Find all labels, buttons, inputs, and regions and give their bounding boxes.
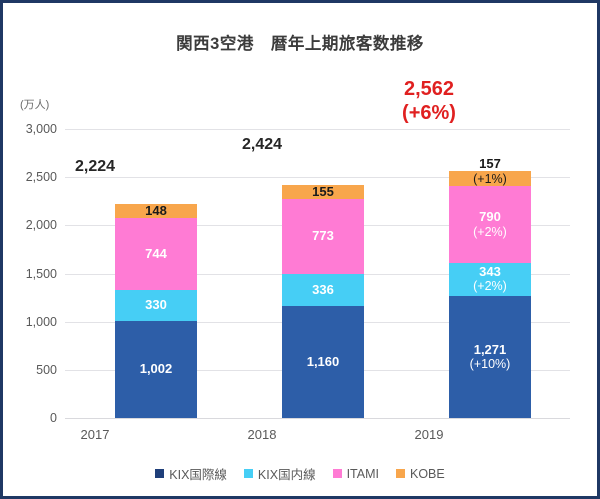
legend-swatch-itami [333,469,342,478]
bar-pct-2019-kix-international: (+10%) [470,357,511,371]
bar-pct-2019-kix-domestic: (+2%) [473,279,507,293]
bar-total-2017: 2,224 [25,157,165,176]
bar-value-2019-kobe: 157 [449,156,531,171]
y-tick-3000: 3,000 [5,122,57,136]
y-tick-0: 0 [5,411,57,425]
bar-value-2019-kix-international: 1,271 [474,343,507,358]
legend-item-kobe[interactable]: KOBE [396,467,445,481]
bar-segment-2017-kix-international[interactable]: 1,002 [115,321,197,418]
legend-item-kix-international[interactable]: KIX国際線 [155,464,227,483]
y-tick-2000: 2,000 [5,218,57,232]
chart-page: 関西3空港 暦年上期旅客数推移 (万人) 3,000 2,500 2,000 1… [0,0,600,499]
legend-label-kobe: KOBE [410,467,445,481]
legend-label-itami: ITAMI [347,467,379,481]
bar-value-2019-kix-domestic: 343 [479,265,501,280]
y-axis-unit-label: (万人) [20,96,49,112]
legend-label-kix-domestic: KIX国内線 [258,464,316,483]
legend-item-itami[interactable]: ITAMI [333,467,379,481]
bar-segment-2017-kobe[interactable]: 148 [115,204,197,218]
bar-value-2018-itami: 773 [312,229,334,244]
y-tick-1000: 1,000 [5,315,57,329]
x-tick-2019: 2019 [359,427,499,442]
chart-canvas: 関西3空港 暦年上期旅客数推移 (万人) 3,000 2,500 2,000 1… [3,3,597,496]
bar-segment-2018-kobe[interactable]: 155 [282,185,364,200]
bar-total-2019: 2,562 (+6%) [359,77,499,125]
x-tick-2018: 2018 [192,427,332,442]
bar-segment-2017-kix-domestic[interactable]: 330 [115,290,197,322]
bar-value-2017-kix-international: 1,002 [140,362,173,377]
bar-pct-2019-kobe: (+1%) [473,172,507,186]
bar-value-2019-itami: 790 [479,210,501,225]
bar-value-2018-kix-domestic: 336 [312,283,334,298]
bar-segment-2018-kix-domestic[interactable]: 336 [282,274,364,306]
bar-segment-2018-itami[interactable]: 773 [282,199,364,273]
bar-segment-2019-kix-domestic[interactable]: 343 (+2%) [449,263,531,296]
bar-value-2018-kobe: 155 [312,185,334,200]
legend-label-kix-international: KIX国際線 [169,464,227,483]
bar-value-2018-kix-international: 1,160 [307,355,340,370]
legend-swatch-kobe [396,469,405,478]
bar-total-pct-2019: (+6%) [359,101,499,125]
bar-segment-2018-kix-international[interactable]: 1,160 [282,306,364,418]
y-tick-1500: 1,500 [5,267,57,281]
x-axis-line [65,418,570,419]
x-tick-2017: 2017 [25,427,165,442]
gridline-3000 [65,129,570,130]
chart-legend: KIX国際線 KIX国内線 ITAMI KOBE [3,464,597,483]
bar-total-value-2017: 2,224 [25,157,165,176]
bar-total-value-2019: 2,562 [359,77,499,101]
legend-swatch-kix-domestic [244,469,253,478]
bar-total-2018: 2,424 [192,135,332,154]
bar-segment-2019-kobe[interactable]: (+1%) [449,171,531,186]
legend-swatch-kix-international [155,469,164,478]
bar-segment-2019-itami[interactable]: 790 (+2%) [449,186,531,262]
bar-pct-2019-itami: (+2%) [473,225,507,239]
chart-title: 関西3空港 暦年上期旅客数推移 [3,30,597,54]
bar-segment-2017-itami[interactable]: 744 [115,218,197,290]
y-tick-500: 500 [5,363,57,377]
bar-value-2017-kobe: 148 [145,204,167,219]
legend-item-kix-domestic[interactable]: KIX国内線 [244,464,316,483]
bar-segment-2019-kix-international[interactable]: 1,271 (+10%) [449,296,531,418]
bar-value-2017-kix-domestic: 330 [145,298,167,313]
bar-total-value-2018: 2,424 [192,135,332,154]
bar-value-2017-itami: 744 [145,247,167,262]
